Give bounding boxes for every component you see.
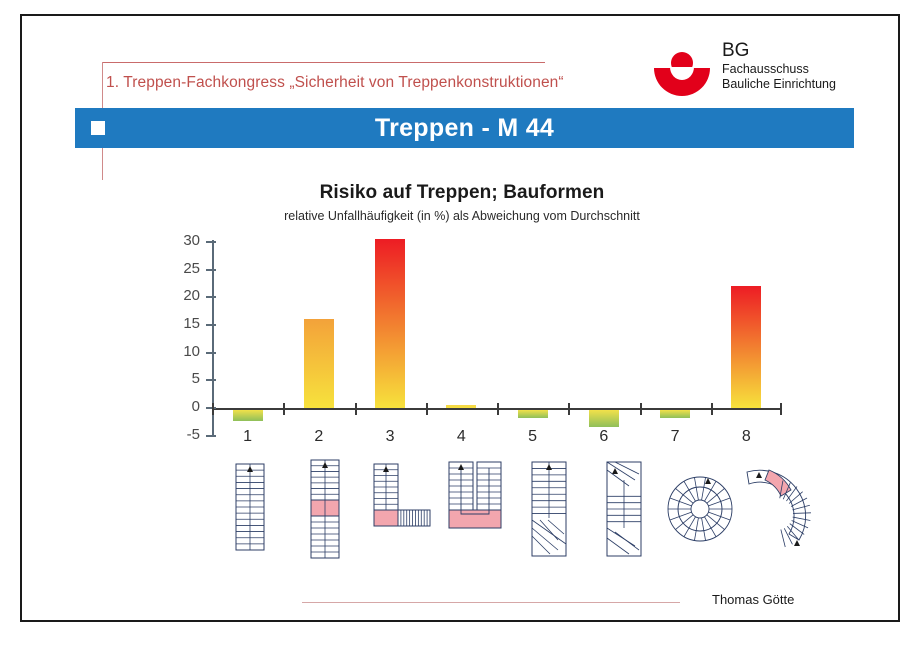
bar-2 <box>304 319 334 408</box>
x-axis-category-label: 1 <box>228 428 268 446</box>
stair-diagram-7 <box>664 454 736 564</box>
x-axis-tick <box>283 403 285 415</box>
congress-header-text: 1. Treppen-Fachkongress „Sicherheit von … <box>106 74 564 92</box>
stair-diagram-2 <box>289 454 361 564</box>
y-axis-label: 15 <box>160 315 200 332</box>
stair-type-diagrams <box>212 454 812 564</box>
bg-logo-subtitle-line1: Fachausschuss <box>722 62 836 77</box>
curved-stair-icon <box>739 454 811 564</box>
bar-3 <box>375 239 405 408</box>
header-rule <box>102 62 545 63</box>
bg-logo-mark-icon <box>654 52 710 94</box>
x-axis-tick <box>426 403 428 415</box>
bar-8 <box>731 286 761 408</box>
bar-1 <box>233 410 263 421</box>
x-axis-tick <box>212 403 214 415</box>
bg-logo: BG Fachausschuss Bauliche Einrichtung <box>654 40 874 104</box>
x-axis-category-label: 2 <box>299 428 339 446</box>
x-axis-tick <box>355 403 357 415</box>
slide-title: Treppen - M 44 <box>75 108 854 148</box>
bg-logo-bowl-icon <box>654 68 710 96</box>
x-axis-tick <box>711 403 713 415</box>
stair-diagram-1 <box>214 454 286 564</box>
chart-subtitle: relative Unfallhäufigkeit (in %) als Abw… <box>22 209 902 223</box>
chart-title: Risiko auf Treppen; Bauformen <box>22 182 902 204</box>
stair-diagram-5 <box>514 454 586 564</box>
x-axis-tick <box>640 403 642 415</box>
stair-diagram-4 <box>439 454 511 564</box>
footer-author: Thomas Götte <box>712 592 794 607</box>
bg-logo-subtitle: Fachausschuss Bauliche Einrichtung <box>722 62 836 91</box>
bar-7 <box>660 410 690 418</box>
quarter-turn-l-stair-icon <box>364 454 436 564</box>
x-axis-category-label: 4 <box>441 428 481 446</box>
bg-logo-subtitle-line2: Bauliche Einrichtung <box>722 77 836 92</box>
bar-chart-plot: 302520151050-512345678 <box>162 240 782 440</box>
bg-logo-abbreviation: BG <box>722 40 749 62</box>
bar-4 <box>446 405 476 408</box>
y-axis-tick <box>206 352 216 354</box>
y-axis-tick <box>206 379 216 381</box>
y-axis-label: 25 <box>160 260 200 277</box>
stair-diagram-8 <box>739 454 811 564</box>
y-axis-tick <box>206 324 216 326</box>
y-axis-tick <box>206 241 216 243</box>
footer-rule <box>302 602 680 603</box>
half-turn-u-stair-icon <box>439 454 511 564</box>
y-axis-tick <box>206 435 216 437</box>
y-axis-tick <box>206 269 216 271</box>
y-axis-label: 30 <box>160 232 200 249</box>
x-axis-category-label: 7 <box>655 428 695 446</box>
x-axis-tick <box>497 403 499 415</box>
y-axis-label: 20 <box>160 287 200 304</box>
x-axis-category-label: 6 <box>584 428 624 446</box>
y-axis-label: 5 <box>160 370 200 387</box>
straight-stair-with-landing-icon <box>289 454 361 564</box>
bar-6 <box>589 410 619 427</box>
y-axis-label: 0 <box>160 398 200 415</box>
slide-title-bar: Treppen - M 44 <box>75 108 854 148</box>
y-axis-label: -5 <box>160 426 200 443</box>
spiral-stair-icon <box>664 454 736 564</box>
y-axis-tick <box>206 296 216 298</box>
x-axis-tick <box>568 403 570 415</box>
x-axis-category-label: 8 <box>726 428 766 446</box>
y-axis-label: 10 <box>160 343 200 360</box>
stair-diagram-3 <box>364 454 436 564</box>
x-axis-category-label: 5 <box>513 428 553 446</box>
slide-frame: 1. Treppen-Fachkongress „Sicherheit von … <box>20 14 900 622</box>
bar-5 <box>518 410 548 418</box>
straight-stair-icon <box>214 454 286 564</box>
x-axis-tick <box>780 403 782 415</box>
stair-diagram-6 <box>589 454 661 564</box>
x-axis-category-label: 3 <box>370 428 410 446</box>
y-axis-tick <box>206 407 216 409</box>
single-winder-stair-icon <box>514 454 586 564</box>
double-winder-stair-icon <box>589 454 661 564</box>
